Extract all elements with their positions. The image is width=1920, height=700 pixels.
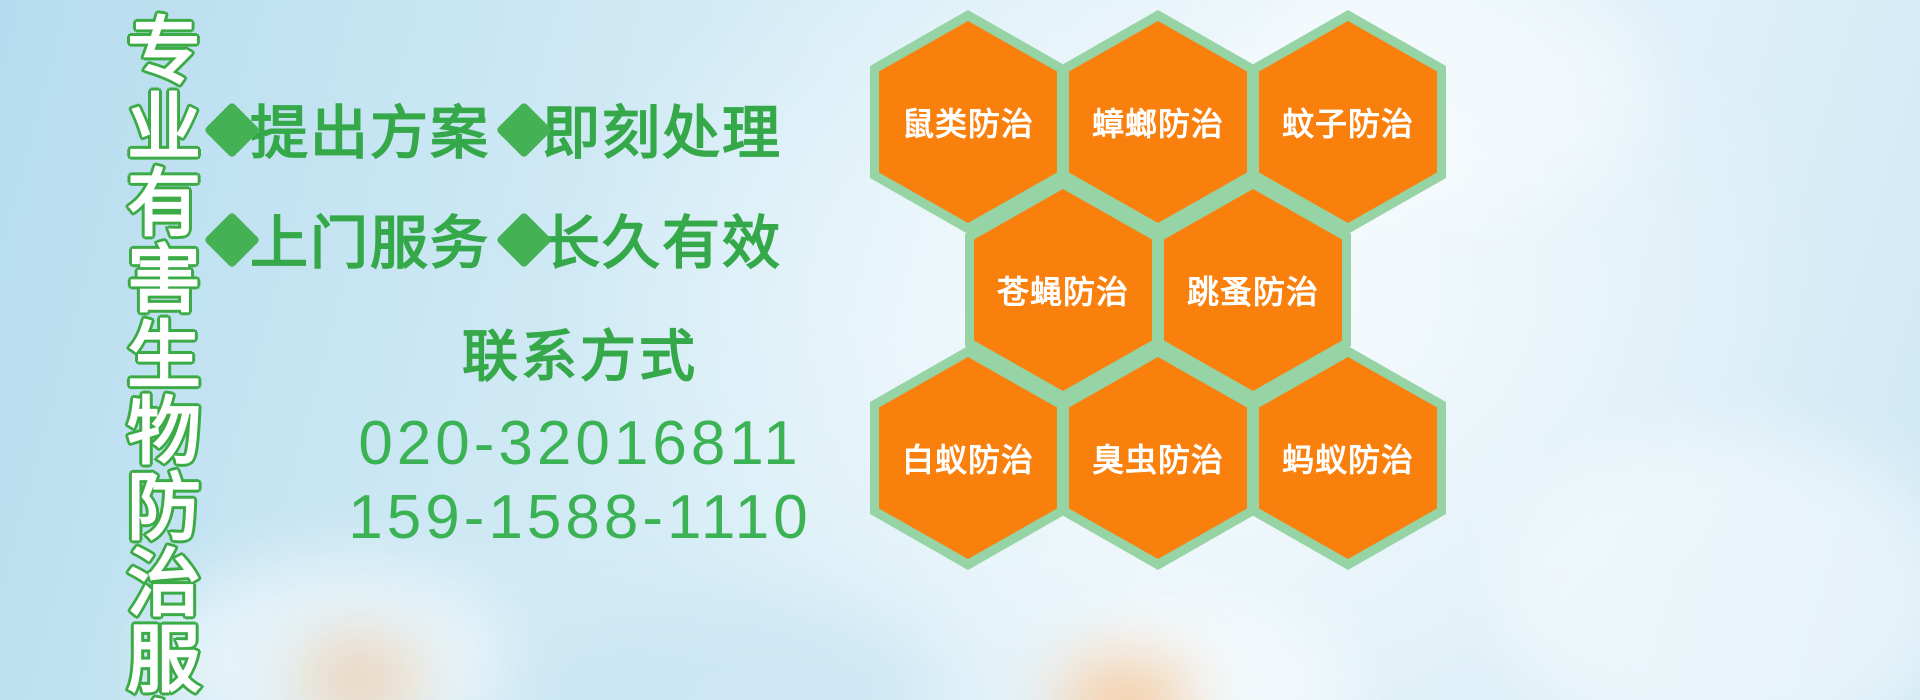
contact-heading: 联系方式 [300,312,860,393]
service-label: 蟑螂防治 [1092,99,1224,145]
headline-char: 业 [127,90,201,166]
headline-char: 有 [127,166,201,242]
service-label: 白蚁防治 [902,435,1034,481]
service-label: 跳蚤防治 [1187,267,1319,313]
headline-char: 治 [127,546,201,622]
service-hexagon-grid: 鼠类防治 蟑螂防治 蚊子防治 苍蝇防治 跳蚤防治 白蚁防治 [858,0,1458,700]
feature-label: 即刻处理 [542,86,782,170]
feature-item: 长久有效 [524,196,782,280]
feature-row: 提出方案 即刻处理 [232,86,782,170]
service-hexagon[interactable]: 臭虫防治 [1060,346,1256,570]
feature-row: 上门服务 长久有效 [232,196,782,280]
background-blob [1500,430,1920,700]
feature-item: 即刻处理 [524,86,782,170]
service-hexagon[interactable]: 蚂蚁防治 [1250,346,1446,570]
feature-label: 长久有效 [542,196,782,280]
headline-char: 服 [127,622,201,698]
service-label: 蚊子防治 [1282,99,1414,145]
contact-block: 联系方式 020-32016811 159-1588-1110 [300,312,860,555]
feature-label: 上门服务 [250,196,490,280]
service-hexagon[interactable]: 白蚁防治 [870,346,1066,570]
background-blob [300,640,420,700]
vertical-headline: 专 业 有 害 生 物 防 治 服 务 [112,14,216,690]
feature-item: 上门服务 [232,196,490,280]
promo-banner: 专 业 有 害 生 物 防 治 服 务 提出方案 即刻处理 上门服务 长久有效 [0,0,1920,700]
service-label: 苍蝇防治 [997,267,1129,313]
headline-char: 防 [127,470,201,546]
phone-number-mobile[interactable]: 159-1588-1110 [300,481,860,555]
feature-item: 提出方案 [232,86,490,170]
service-label: 鼠类防治 [902,99,1034,145]
phone-number-landline[interactable]: 020-32016811 [300,407,860,481]
headline-char: 生 [127,318,201,394]
headline-char: 专 [127,14,201,90]
service-label: 蚂蚁防治 [1282,435,1414,481]
feature-label: 提出方案 [250,86,490,170]
service-label: 臭虫防治 [1092,435,1224,481]
headline-char: 物 [127,394,201,470]
headline-char: 害 [127,242,201,318]
